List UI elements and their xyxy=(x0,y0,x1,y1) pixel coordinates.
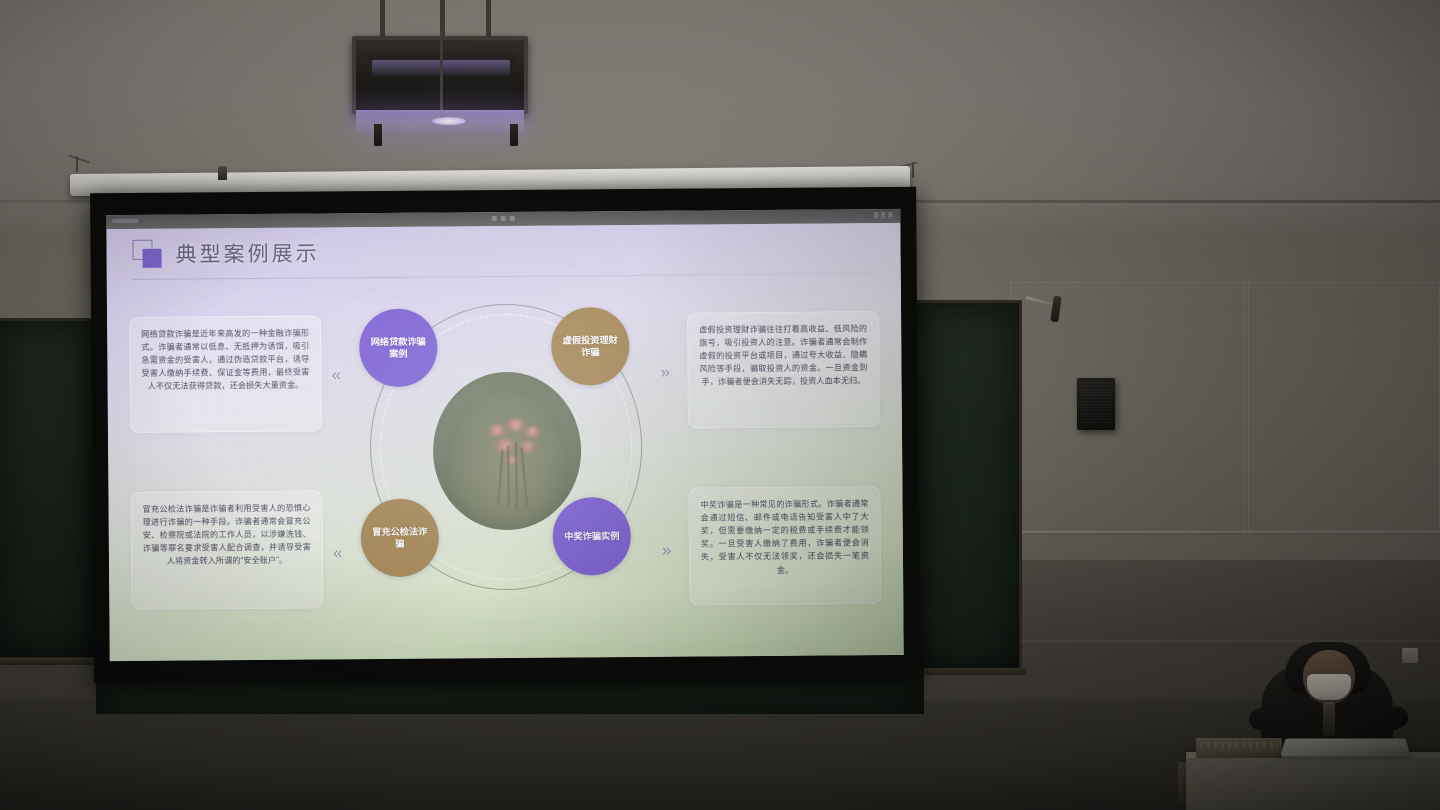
tray-icon[interactable] xyxy=(888,212,892,218)
chevron-right-icon: » xyxy=(660,364,670,381)
center-photo xyxy=(433,371,582,530)
console-keys[interactable] xyxy=(1200,742,1278,749)
node-label: 虚假投资理财诈骗 xyxy=(560,334,620,359)
case-card-text: 中奖诈骗是一种常见的诈骗形式。诈骗者通常会通过短信、邮件或电话告知受害人中了大奖… xyxy=(701,497,870,577)
case-card-bottom-left: 冒充公检法诈骗是诈骗者利用受害人的恐惧心理进行诈骗的一种手段。诈骗者通常会冒充公… xyxy=(130,490,323,610)
powerpoint-slide: 典型案例展示 网络贷款诈骗是近年来高发的一种金融诈骗形式。诈骗者通常以低息、无抵… xyxy=(106,223,903,661)
page-title: 典型案例展示 xyxy=(175,237,319,268)
lectern xyxy=(1186,752,1440,810)
control-console[interactable] xyxy=(1196,738,1282,758)
blackboard-left xyxy=(0,318,104,660)
slide-title-row: 典型案例展示 xyxy=(132,237,319,268)
node-label: 网络贷款诈骗案例 xyxy=(368,335,428,360)
screen-housing-bracket xyxy=(218,166,227,180)
title-divider xyxy=(133,273,875,280)
double-square-icon xyxy=(132,240,162,268)
case-card-text: 网络贷款诈骗是近年来高发的一种金融诈骗形式。诈骗者通常以低息、无抵押为诱饵，吸引… xyxy=(141,327,310,394)
case-card-top-left: 网络贷款诈骗是近年来高发的一种金融诈骗形式。诈骗者通常以低息、无抵押为诱饵，吸引… xyxy=(129,315,322,433)
square-filled-icon xyxy=(143,249,162,268)
case-card-text: 冒充公检法诈骗是诈骗者利用受害人的恐惧心理进行诈骗的一种手段。诈骗者通常会冒充公… xyxy=(143,502,312,569)
chevron-left-icon: « xyxy=(331,366,341,383)
projector-mount-rod xyxy=(380,0,385,40)
circular-diagram: 网络贷款诈骗案例 虚假投资理财诈骗 冒充公检法诈骗 中奖诈骗实例 xyxy=(355,291,657,603)
taskbar-start-area[interactable] xyxy=(112,219,138,223)
projector-bracket xyxy=(510,124,518,146)
wall-panel xyxy=(1248,282,1440,532)
laptop[interactable] xyxy=(1280,738,1410,756)
case-card-bottom-right: 中奖诈骗是一种常见的诈骗形式。诈骗者通常会通过短信、邮件或电话告知受害人中了大奖… xyxy=(688,486,881,606)
diagram-node-prize-fraud[interactable]: 中奖诈骗实例 xyxy=(552,497,631,576)
cage-divider xyxy=(440,40,443,118)
taskbar-tray[interactable] xyxy=(874,212,892,218)
node-label: 冒充公检法诈骗 xyxy=(370,525,430,550)
projector-mount-rod xyxy=(486,0,491,40)
projector-lens xyxy=(432,117,466,125)
case-card-text: 虚假投资理财诈骗往往打着高收益、低风险的旗号，吸引投资人的注意。诈骗者通常会制作… xyxy=(699,322,868,389)
screen-ceiling-hook xyxy=(912,162,914,178)
wall-rail xyxy=(1000,531,1440,535)
taskbar-center-icons[interactable] xyxy=(492,216,515,221)
taskbar-icon[interactable] xyxy=(501,216,506,221)
blackboard-right xyxy=(906,300,1022,672)
taskbar-icon[interactable] xyxy=(510,216,515,221)
projector-mount-rod xyxy=(440,0,445,36)
wall-speaker xyxy=(1077,378,1115,430)
diagram-node-online-loan-fraud[interactable]: 网络贷款诈骗案例 xyxy=(359,309,438,388)
tray-icon[interactable] xyxy=(874,212,878,218)
diagram-node-fake-investment-fraud[interactable]: 虚假投资理财诈骗 xyxy=(551,307,630,386)
chevron-left-icon: « xyxy=(333,544,343,561)
wall-panel xyxy=(1010,282,1245,532)
projection-screen-surface: 典型案例展示 网络贷款诈骗是近年来高发的一种金融诈骗形式。诈骗者通常以低息、无抵… xyxy=(106,209,903,661)
face-mask xyxy=(1307,674,1351,700)
diagram-node-impersonating-authority-fraud[interactable]: 冒充公检法诈骗 xyxy=(360,499,439,578)
taskbar-icon[interactable] xyxy=(492,216,497,221)
lecture-hall-scene: 典型案例展示 网络贷款诈骗是近年来高发的一种金融诈骗形式。诈骗者通常以低息、无抵… xyxy=(0,0,1440,810)
case-card-top-right: 虚假投资理财诈骗往往打着高收益、低风险的旗号，吸引投资人的注意。诈骗者通常会制作… xyxy=(687,311,880,429)
node-label: 中奖诈骗实例 xyxy=(564,530,619,543)
presenter-lanyard xyxy=(1323,702,1335,736)
screen-ceiling-hook xyxy=(76,156,78,172)
tray-icon[interactable] xyxy=(881,212,885,218)
projector-cage xyxy=(352,36,528,114)
speaker-grill xyxy=(1081,383,1111,424)
chevron-right-icon: » xyxy=(662,542,672,559)
projector-bracket xyxy=(374,124,382,146)
projection-screen-frame: 典型案例展示 网络贷款诈骗是近年来高发的一种金融诈骗形式。诈骗者通常以低息、无抵… xyxy=(90,187,920,683)
